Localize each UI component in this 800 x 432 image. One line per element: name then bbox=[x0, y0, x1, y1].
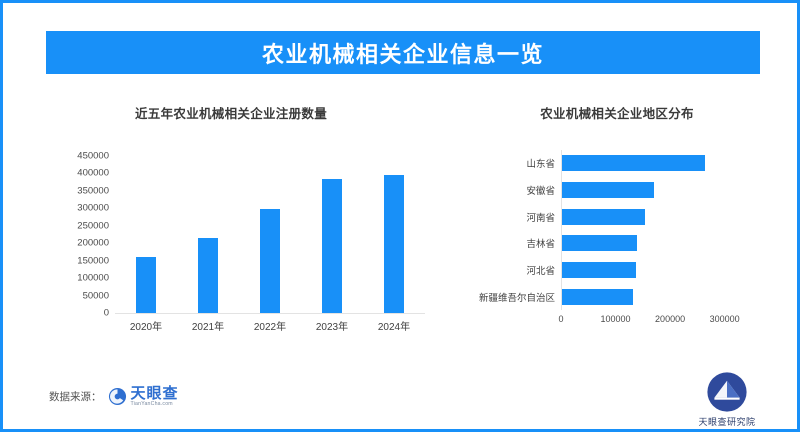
y-axis-tick-label: 400000 bbox=[77, 168, 109, 179]
chart-title-registrations: 近五年农业机械相关企业注册数量 bbox=[63, 103, 433, 122]
vertical-chart-x-axis: 2020年2021年2022年2023年2024年 bbox=[115, 318, 425, 333]
x-axis-tick-label: 2021年 bbox=[179, 318, 238, 333]
bar-slot bbox=[117, 156, 176, 313]
horizontal-bar-chart: 山东省安徽省河南省吉林省河北省新疆维吾尔自治区 0100000200000300… bbox=[443, 148, 773, 348]
vertical-bar[interactable] bbox=[136, 257, 156, 313]
research-institute-brand: 天眼查研究院 bbox=[685, 371, 769, 428]
data-source: 数据来源： 天眼查 TianYanCha.com bbox=[49, 386, 179, 407]
x-axis-tick-label: 2023年 bbox=[303, 318, 362, 333]
horizontal-chart-plot-area: 山东省安徽省河南省吉林省河北省新疆维吾尔自治区 bbox=[561, 150, 742, 310]
y-axis-tick-label: 250000 bbox=[77, 220, 109, 231]
chart-panel-registrations: 近五年农业机械相关企业注册数量 450000400000350000300000… bbox=[63, 103, 433, 353]
tianyancha-name-cn: 天眼查 bbox=[131, 386, 179, 401]
data-source-label: 数据来源： bbox=[49, 389, 102, 404]
bar-row: 河北省 bbox=[562, 262, 636, 278]
category-label: 吉林省 bbox=[526, 236, 555, 250]
horizontal-bar[interactable] bbox=[562, 289, 633, 305]
y-axis-tick-label: 150000 bbox=[77, 255, 109, 266]
vertical-bar[interactable] bbox=[322, 179, 342, 313]
page-title-banner: 农业机械相关企业信息一览 bbox=[46, 31, 760, 74]
research-institute-name: 天眼查研究院 bbox=[685, 415, 769, 428]
horizontal-bar[interactable] bbox=[562, 182, 654, 198]
tianyancha-name-en: TianYanCha.com bbox=[131, 402, 179, 407]
tianyancha-eye-icon bbox=[108, 387, 127, 406]
y-axis-tick-label: 450000 bbox=[77, 151, 109, 162]
y-axis-tick-label: 300000 bbox=[77, 203, 109, 214]
category-label: 山东省 bbox=[526, 156, 555, 170]
x-axis-tick-label: 300000 bbox=[710, 314, 740, 324]
horizontal-bar[interactable] bbox=[562, 155, 705, 171]
horizontal-bar[interactable] bbox=[562, 209, 645, 225]
x-axis-tick-label: 0 bbox=[558, 314, 563, 324]
vertical-chart-bars bbox=[115, 156, 425, 313]
tianyancha-wordmark: 天眼查 TianYanCha.com bbox=[131, 386, 179, 407]
vertical-bar[interactable] bbox=[198, 238, 218, 313]
x-axis-tick-label: 200000 bbox=[655, 314, 685, 324]
infographic-page: 农业机械相关企业信息一览 近五年农业机械相关企业注册数量 45000040000… bbox=[0, 0, 800, 432]
y-axis-tick-label: 50000 bbox=[83, 290, 109, 301]
category-label: 河南省 bbox=[526, 210, 555, 224]
vertical-chart-plot-area: 4500004000003500003000002500002000001500… bbox=[115, 156, 425, 314]
vertical-bar-chart: 4500004000003500003000002500002000001500… bbox=[63, 150, 433, 340]
tianyancha-logo: 天眼查 TianYanCha.com bbox=[108, 386, 179, 407]
x-axis-tick-label: 2024年 bbox=[365, 318, 424, 333]
category-label: 河北省 bbox=[526, 263, 555, 277]
x-axis-tick-label: 2020年 bbox=[117, 318, 176, 333]
bar-slot bbox=[303, 156, 362, 313]
x-axis-tick-label: 100000 bbox=[601, 314, 631, 324]
vertical-bar[interactable] bbox=[384, 175, 404, 313]
bar-row: 河南省 bbox=[562, 209, 645, 225]
chart-title-regions: 农业机械相关企业地区分布 bbox=[443, 103, 773, 122]
bar-slot bbox=[241, 156, 300, 313]
horizontal-chart-x-axis: 0100000200000300000 bbox=[561, 314, 741, 328]
y-axis-tick-label: 0 bbox=[104, 308, 109, 319]
x-axis-tick-label: 2022年 bbox=[241, 318, 300, 333]
bar-row: 吉林省 bbox=[562, 235, 637, 251]
horizontal-bar[interactable] bbox=[562, 235, 637, 251]
y-axis-tick-label: 100000 bbox=[77, 273, 109, 284]
page-title: 农业机械相关企业信息一览 bbox=[262, 37, 544, 69]
category-label: 安徽省 bbox=[526, 183, 555, 197]
vertical-bar[interactable] bbox=[260, 209, 280, 313]
y-axis-tick-label: 200000 bbox=[77, 238, 109, 249]
research-institute-icon bbox=[706, 371, 748, 413]
bar-slot bbox=[179, 156, 238, 313]
bar-row: 山东省 bbox=[562, 155, 705, 171]
horizontal-bar[interactable] bbox=[562, 262, 636, 278]
chart-panel-regions: 农业机械相关企业地区分布 山东省安徽省河南省吉林省河北省新疆维吾尔自治区 010… bbox=[443, 103, 773, 353]
bar-row: 安徽省 bbox=[562, 182, 654, 198]
bar-row: 新疆维吾尔自治区 bbox=[562, 289, 633, 305]
bar-slot bbox=[365, 156, 424, 313]
y-axis-tick-label: 350000 bbox=[77, 185, 109, 196]
category-label: 新疆维吾尔自治区 bbox=[479, 290, 555, 304]
